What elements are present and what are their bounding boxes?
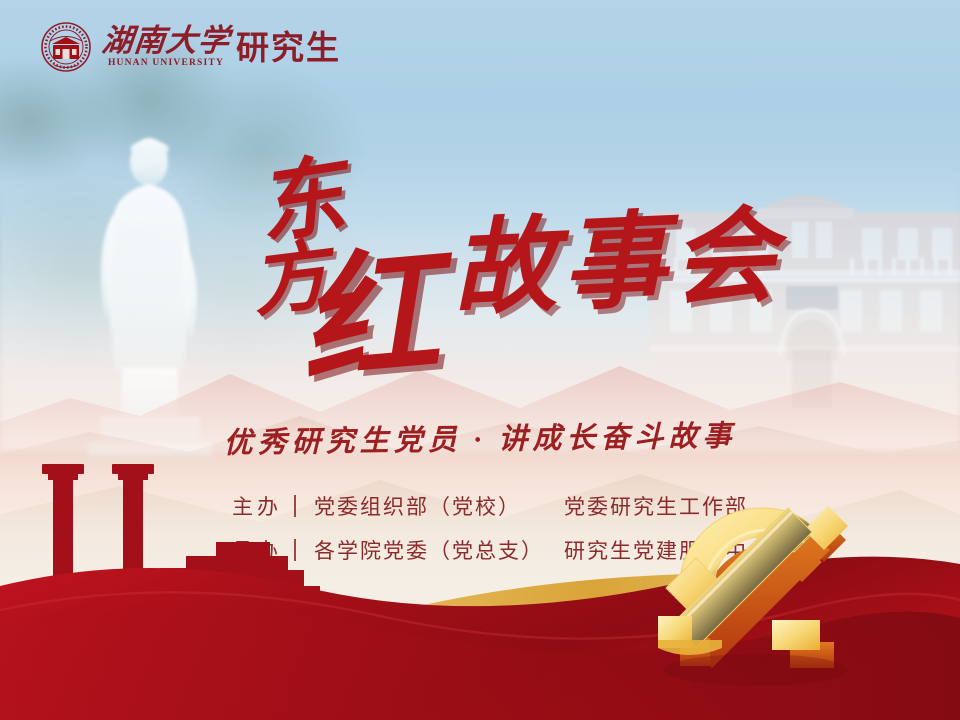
- cpc-hammer-sickle-emblem-icon: [636, 500, 936, 710]
- hunan-university-crest-icon: [40, 21, 92, 73]
- poster-canvas: 湖南大学 HUNAN UNIVERSITY 研究生 东 方 红 故事会 优秀研究…: [0, 0, 960, 720]
- poster-title: 东 方 红 故事会: [0, 150, 960, 370]
- department-name-cn: 研究生: [236, 33, 341, 69]
- university-name-block: 湖南大学 HUNAN UNIVERSITY: [102, 25, 230, 69]
- site-header: 湖南大学 HUNAN UNIVERSITY 研究生: [40, 18, 341, 76]
- university-name-en: HUNAN UNIVERSITY: [108, 59, 224, 69]
- title-rest-gushihui: 故事会: [450, 205, 784, 323]
- title-char-hong: 红: [294, 244, 444, 394]
- header-wordmark: 湖南大学 HUNAN UNIVERSITY 研究生: [102, 25, 341, 69]
- university-name-cn: 湖南大学: [100, 25, 231, 56]
